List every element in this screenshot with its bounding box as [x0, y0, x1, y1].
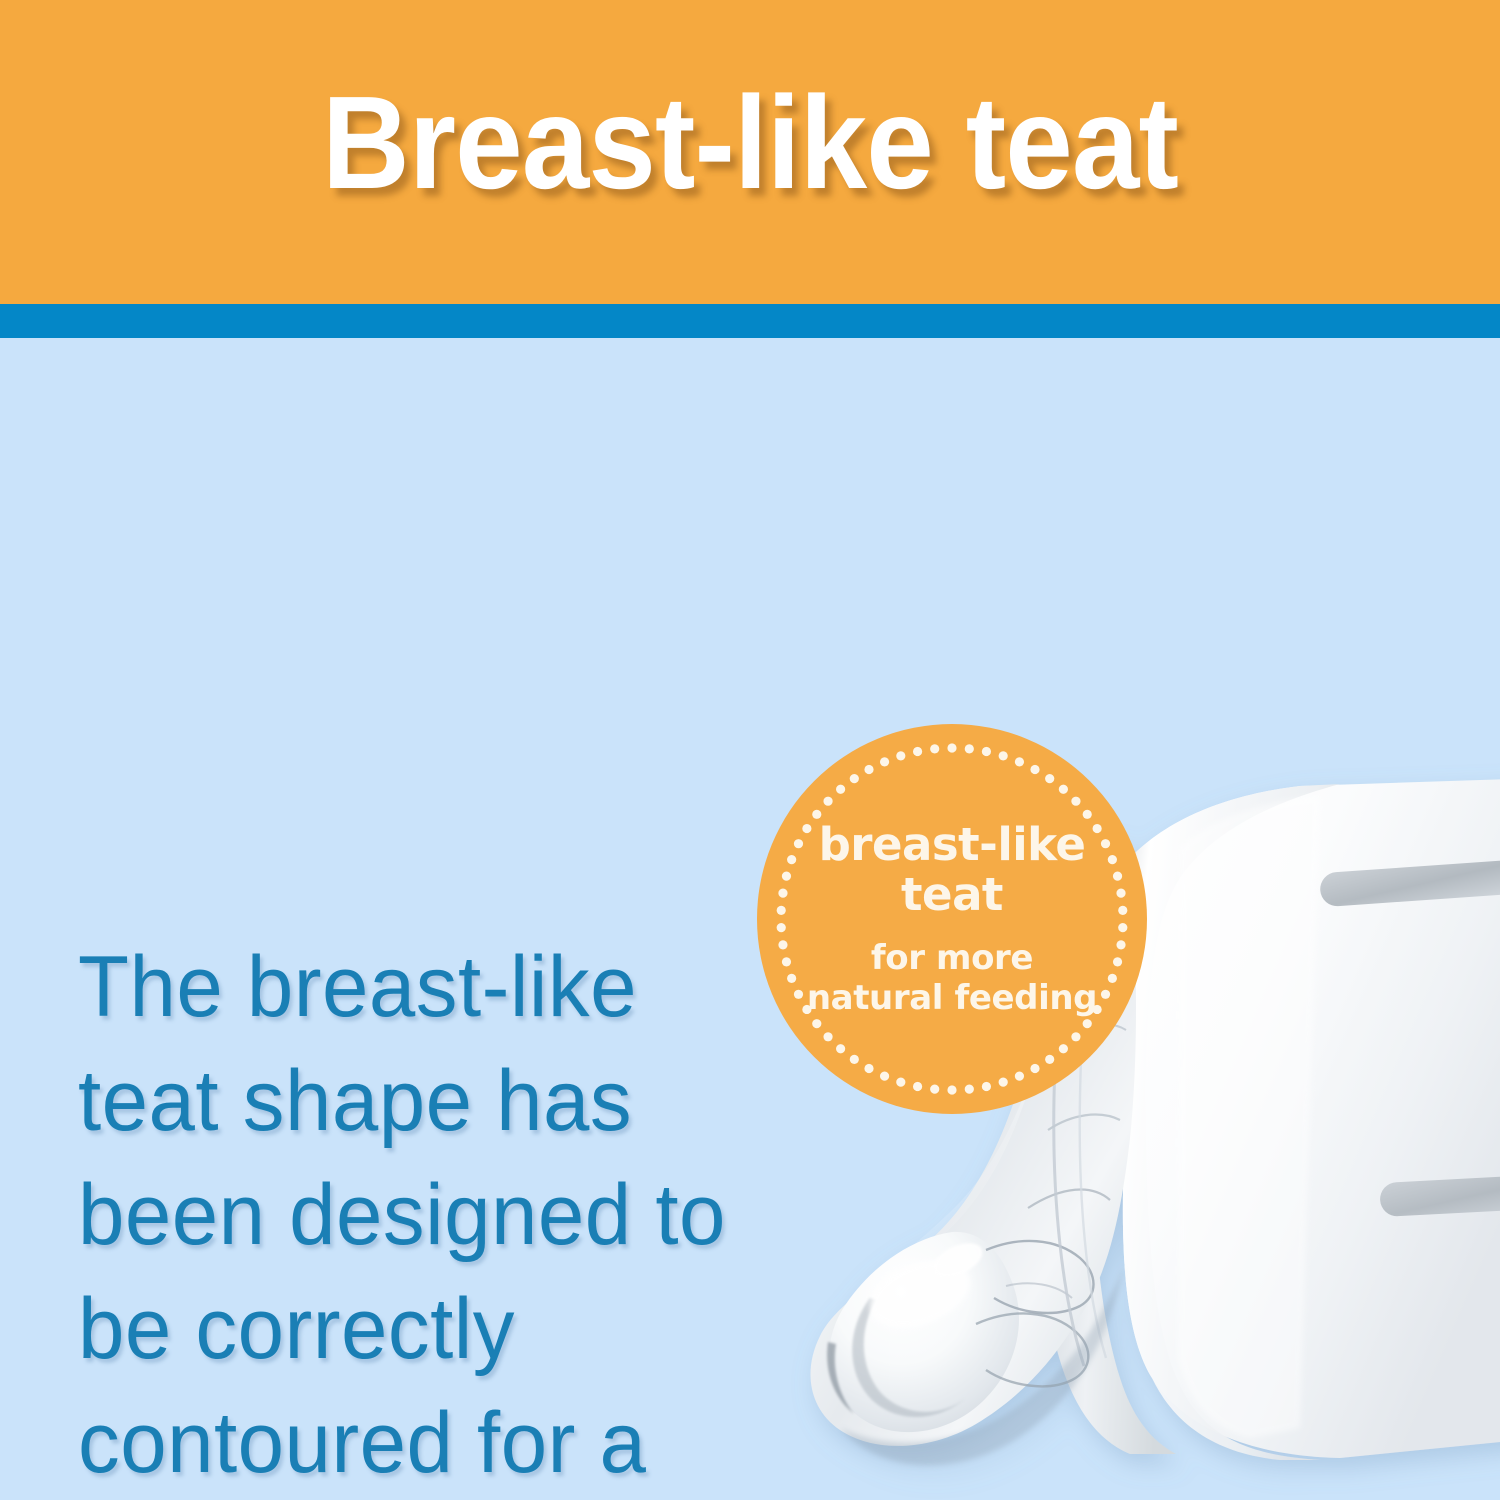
promo-panel: Breast-like teat: [0, 0, 1500, 1500]
divider-bar: [0, 304, 1500, 338]
body-area: breast-like teat for more natural feedin…: [0, 338, 1500, 1500]
badge-subline: for more natural feeding: [802, 938, 1102, 1018]
page-title: Breast-like teat: [60, 77, 1440, 209]
badge-text-block: breast-like teat for more natural feedin…: [757, 724, 1147, 1114]
header-band: Breast-like teat: [0, 0, 1500, 304]
ring-highlight: [1178, 796, 1320, 1438]
body-copy: The breast-like teat shape has been desi…: [78, 930, 747, 1500]
badge-headline: breast-like teat: [797, 820, 1107, 920]
badge-breast-like-teat: breast-like teat for more natural feedin…: [757, 724, 1147, 1114]
